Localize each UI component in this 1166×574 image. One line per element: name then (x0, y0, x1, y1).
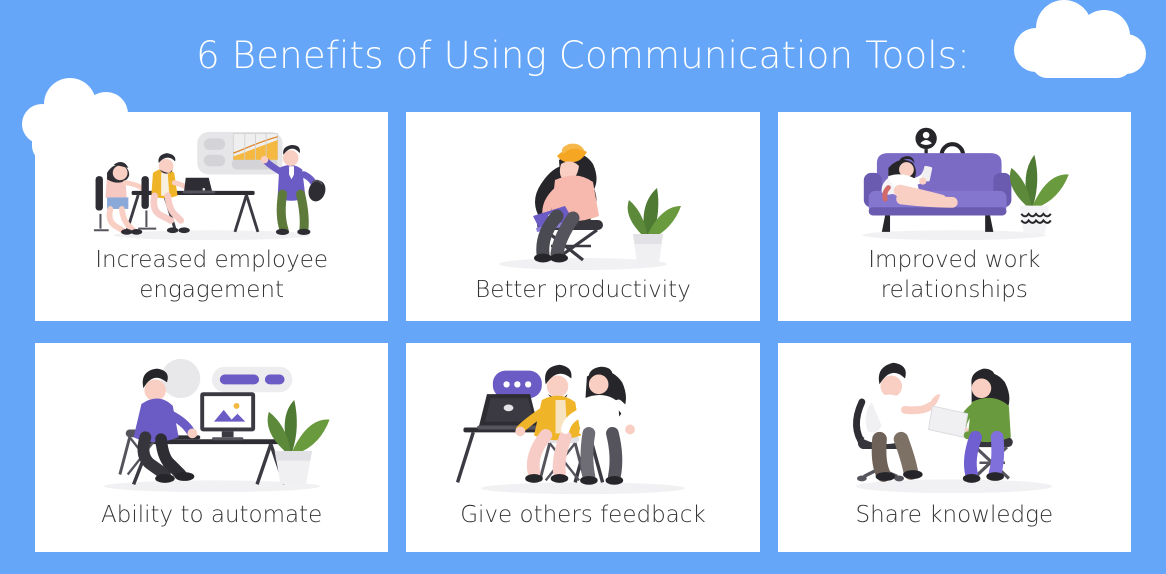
benefit-card-4-label: Ability to automate (101, 500, 322, 540)
benefit-card-6[interactable]: Share knowledge (778, 343, 1131, 552)
benefit-card-4[interactable]: Ability to automate (35, 343, 388, 552)
benefits-grid: Increased employee engagement (35, 112, 1131, 552)
benefit-card-2[interactable]: Better productivity (406, 112, 759, 321)
illustration-two-colleagues-at-laptop (420, 353, 745, 500)
benefit-card-5-label: Give others feedback (460, 500, 706, 540)
illustration-woman-on-sofa-with-phone (792, 122, 1117, 245)
illustration-person-on-chair-with-laptop (420, 122, 745, 275)
illustration-man-at-desk-with-monitor (49, 353, 374, 500)
benefit-card-1-label: Increased employee engagement (95, 245, 328, 309)
benefit-card-3-label: Improved work relationships (868, 245, 1040, 309)
page-title: 6 Benefits of Using Communication Tools: (196, 37, 970, 74)
benefit-card-6-label: Share knowledge (856, 500, 1054, 540)
illustration-two-people-talking-on-chairs (792, 353, 1117, 500)
infographic-poster: 6 Benefits of Using Communication Tools: (0, 0, 1166, 574)
title-bar: 6 Benefits of Using Communication Tools: (0, 0, 1166, 110)
benefit-card-1[interactable]: Increased employee engagement (35, 112, 388, 321)
benefit-card-3[interactable]: Improved work relationships (778, 112, 1131, 321)
benefit-card-5[interactable]: Give others feedback (406, 343, 759, 552)
illustration-team-meeting-presentation (49, 122, 374, 245)
benefit-card-2-label: Better productivity (475, 275, 691, 309)
